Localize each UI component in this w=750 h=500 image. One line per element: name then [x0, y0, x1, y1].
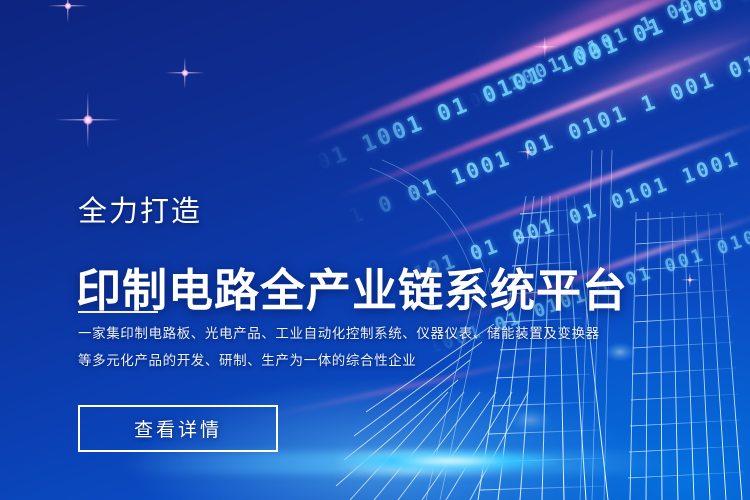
hero-description-line-2: 等多元化产品的开发、研制、生产为一体的综合性企业: [78, 355, 416, 369]
view-details-button-label: 查看详情: [134, 415, 222, 442]
hero-content: 全力打造 印制电路全产业链系统平台 一家集印制电路板、光电产品、工业自动化控制系…: [78, 0, 678, 500]
hero-banner: 01 1001 01 0101 1001 01 100 1 01 1 0 01 …: [0, 0, 750, 500]
view-details-button[interactable]: 查看详情: [78, 405, 278, 452]
hero-headline: 印制电路全产业链系统平台: [76, 268, 628, 313]
hero-divider: [78, 311, 158, 313]
hero-eyebrow: 全力打造: [78, 197, 202, 226]
hero-description-line-1: 一家集印制电路板、光电产品、工业自动化控制系统、仪器仪表、储能装置及变换器: [78, 328, 600, 342]
